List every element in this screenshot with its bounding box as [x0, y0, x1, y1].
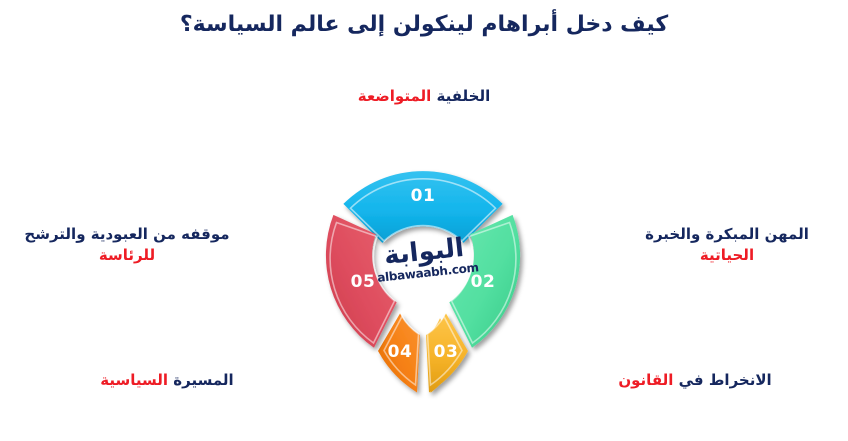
- infographic-canvas: كيف دخل أبراهام لينكولن إلى عالم السياسة…: [0, 0, 848, 441]
- label-segment-05: موقفه من العبودية والترشح للرئاسة: [4, 224, 250, 266]
- label-03-highlight: القانون: [618, 371, 673, 389]
- label-segment-03: الانخراط في القانون: [570, 370, 820, 391]
- donut-chart: 01 02 03 04: [263, 130, 583, 430]
- label-04-primary: المسيرة: [173, 371, 233, 389]
- label-01-primary: الخلفية: [437, 87, 491, 105]
- segment-04-number: 04: [388, 342, 413, 362]
- label-segment-04: المسيرة السياسية: [42, 370, 292, 391]
- segment-05-number: 05: [351, 272, 376, 292]
- segment-01-number: 01: [411, 186, 436, 206]
- page-title: كيف دخل أبراهام لينكولن إلى عالم السياسة…: [0, 10, 848, 40]
- label-segment-01: الخلفية المتواضعة: [274, 86, 574, 107]
- label-segment-02: المهن المبكرة والخبرة الحياتية: [608, 224, 846, 266]
- label-01-highlight: المتواضعة: [358, 87, 432, 105]
- label-05-highlight: للرئاسة: [4, 245, 250, 266]
- segment-03-number: 03: [434, 342, 459, 362]
- label-03-primary: الانخراط في: [679, 371, 772, 389]
- label-02-highlight: الحياتية: [608, 245, 846, 266]
- segment-02-number: 02: [471, 272, 496, 292]
- label-04-highlight: السياسية: [100, 371, 168, 389]
- donut-svg: 01 02 03 04: [263, 130, 583, 430]
- label-05-primary: موقفه من العبودية والترشح: [4, 224, 250, 245]
- label-02-primary: المهن المبكرة والخبرة: [608, 224, 846, 245]
